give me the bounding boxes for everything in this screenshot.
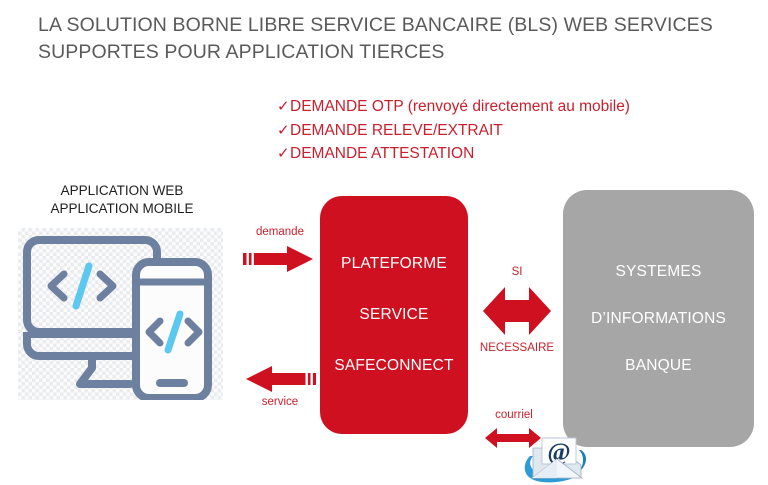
check-icon: ✓ [277,142,290,166]
list-item-label: DEMANDE ATTESTATION [290,142,474,166]
arrow-left-right-icon [483,283,551,339]
device-icon-graphic [18,228,223,400]
si-necessaire-label-bottom: NECESSAIRE [476,342,558,354]
list-item: ✓ DEMANDE OTP (renvoyé directement au mo… [277,95,630,119]
list-item-label: DEMANDE RELEVE/EXTRAIT [290,119,503,143]
platform-service-box: PLATEFORME SERVICE SAFECONNECT [320,196,468,434]
platform-box-line: SAFECONNECT [334,357,453,375]
client-application-label: APPLICATION WEB APPLICATION MOBILE [12,182,232,217]
list-item-label: DEMANDE OTP (renvoyé directement au mobi… [290,95,630,119]
arrow-left-icon [244,366,316,392]
bank-box-line: D’INFORMATIONS [591,310,726,328]
arrow-right-icon [243,246,317,272]
web-and-mobile-app-icon [18,228,223,400]
courriel-arrow-label: courriel [478,409,550,421]
platform-box-line: PLATEFORME [341,255,447,273]
platform-box-line: SERVICE [359,306,428,324]
check-icon: ✓ [277,119,290,143]
check-icon: ✓ [277,95,290,119]
bank-box-line: BANQUE [625,357,692,375]
page-title: LA SOLUTION BORNE LIBRE SERVICE BANCAIRE… [38,12,738,66]
demande-arrow-label: demande [240,226,320,238]
service-arrow-label: service [240,396,320,408]
si-necessaire-label-top: SI [476,266,558,278]
feature-list: ✓ DEMANDE OTP (renvoyé directement au mo… [277,95,630,166]
bank-box-line: SYSTEMES [615,263,701,281]
bank-information-systems-box: SYSTEMES D’INFORMATIONS BANQUE [563,190,754,447]
list-item: ✓ DEMANDE RELEVE/EXTRAIT [277,119,630,143]
list-item: ✓ DEMANDE ATTESTATION [277,142,630,166]
email-envelope-at-icon: @ [521,434,589,485]
